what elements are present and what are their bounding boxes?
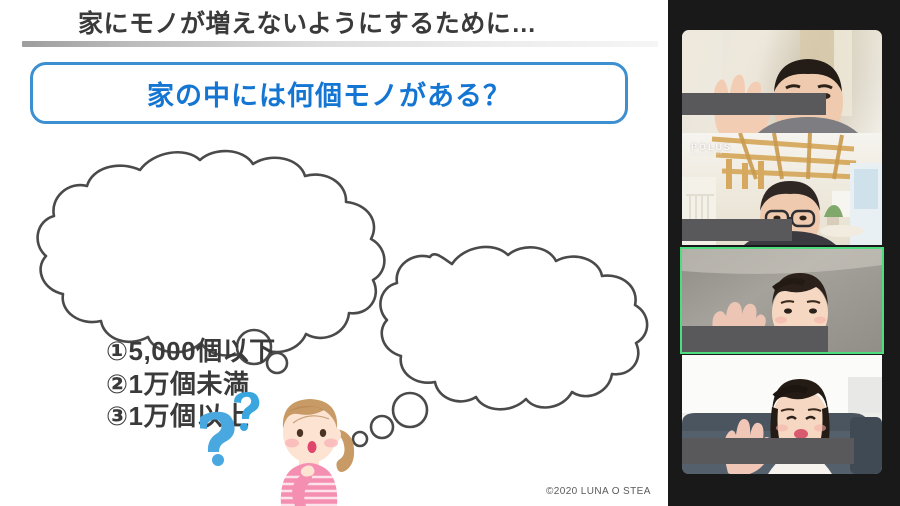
thinking-woman-illustration (255, 385, 365, 506)
room-thought-cloud (348, 240, 648, 455)
video-conference-panel: POLUSPOLUS GROUP (668, 0, 900, 506)
video-tile-participant-3[interactable] (682, 249, 882, 352)
list-item: ①5,000個以下 (106, 336, 276, 368)
participant-name-redaction (682, 326, 828, 352)
question-text: 家の中には何個モノがある？ (147, 74, 511, 113)
participant-name-redaction (682, 93, 826, 115)
question-box: 家の中には何個モノがある？ (30, 62, 628, 124)
presentation-slide: 家にモノが増えないようにするために… 家の中には何個モノがある？ ①5,000個… (0, 0, 668, 506)
slide-screenshot: 家にモノが増えないようにするために… 家の中には何個モノがある？ ①5,000個… (0, 0, 900, 506)
participant-name-redaction (682, 438, 854, 464)
page-title: 家にモノが増えないようにするために… (78, 4, 537, 40)
participant-name-redaction (682, 219, 792, 241)
answer-thought-cloud: ①5,000個以下 ②1万個未満 ③1万個以上 (22, 148, 392, 378)
video-feed (682, 30, 882, 133)
video-tile-participant-4[interactable] (682, 355, 882, 474)
copyright-text: ©2020 LUNA O STEA (546, 486, 651, 497)
video-tile-participant-2[interactable]: POLUSPOLUS GROUP (682, 133, 882, 245)
title-divider (22, 41, 658, 47)
video-tile-participant-1[interactable] (682, 30, 882, 133)
polus-watermark: POLUSPOLUS GROUP (691, 142, 732, 156)
